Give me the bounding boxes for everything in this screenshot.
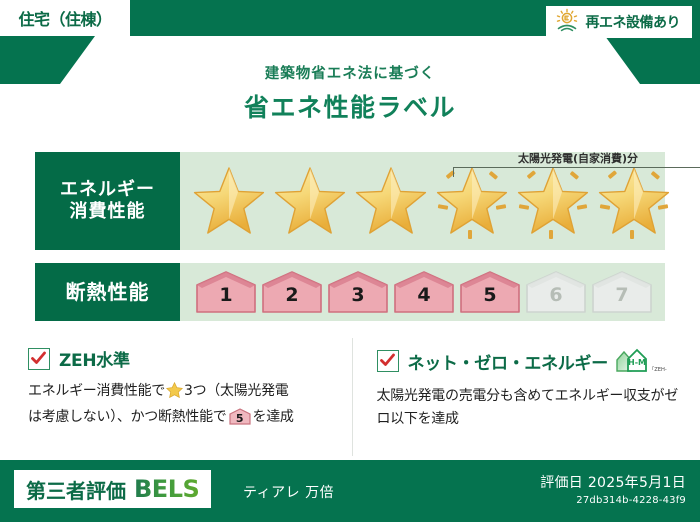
zeh-m-logo: H-M 「ZEH-M」 xyxy=(615,346,667,376)
energy-label-line1: エネルギー xyxy=(60,179,155,202)
zeh-title: ZEH水準 xyxy=(59,346,130,371)
insulation-level-value: 2 xyxy=(285,286,298,314)
inline-house-value: 5 xyxy=(229,413,251,424)
insulation-level-scale: 1 2 3 4 5 6 7 xyxy=(180,270,654,314)
inline-star-icon xyxy=(166,382,183,406)
zeh-checkbox[interactable] xyxy=(28,348,50,370)
building-type-tag: 住宅（住棟） xyxy=(0,0,130,36)
renewable-equipment-badge: 再エネ設備あり xyxy=(546,6,693,38)
energy-performance-label: エネルギー 消費性能 xyxy=(35,152,180,250)
zeh-panel: ZEH水準 エネルギー消費性能で3つ（太陽光発電は考慮しない）、かつ断熱性能で5… xyxy=(0,338,352,456)
insulation-level-value: 5 xyxy=(483,286,496,314)
insulation-level-7: 7 xyxy=(590,270,654,314)
star-rating xyxy=(180,160,673,242)
insulation-level-value: 7 xyxy=(615,286,628,314)
insulation-level-3: 3 xyxy=(326,270,390,314)
insulation-scale-body: 1 2 3 4 5 6 7 xyxy=(180,263,665,321)
net-zero-title: ネット・ゼロ・エネルギー xyxy=(408,349,608,374)
building-type-label: 住宅（住棟） xyxy=(18,6,111,30)
evaluation-id: 27db314b-4228-43f9 xyxy=(540,495,686,506)
subtitle: 建築物省エネ法に基づく xyxy=(0,62,700,83)
footer: 第三者評価 BELS ティアレ 万倍 評価日 2025年5月1日 27db314… xyxy=(0,460,700,522)
zeh-description: エネルギー消費性能で3つ（太陽光発電は考慮しない）、かつ断熱性能で5を達成 xyxy=(28,380,330,428)
insulation-level-6: 6 xyxy=(524,270,588,314)
check-icon xyxy=(30,350,47,367)
star-4 xyxy=(433,160,511,242)
bels-logo-text: BELS xyxy=(134,475,199,503)
evaluation-date: 評価日 2025年5月1日 xyxy=(540,472,686,492)
star-3 xyxy=(352,160,430,242)
insulation-level-4: 4 xyxy=(392,270,456,314)
energy-label-line2: 消費性能 xyxy=(70,201,146,224)
criteria-panels: ZEH水準 エネルギー消費性能で3つ（太陽光発電は考慮しない）、かつ断熱性能で5… xyxy=(0,338,700,456)
renewable-badge-label: 再エネ設備あり xyxy=(586,12,681,32)
zeh-desc-part1: エネルギー消費性能で xyxy=(28,383,165,399)
solar-sun-icon xyxy=(554,8,580,36)
net-zero-description: 太陽光発電の売電分も含めてエネルギー収支がゼロ以下を達成 xyxy=(377,385,679,430)
evaluation-info: 評価日 2025年5月1日 27db314b-4228-43f9 xyxy=(540,472,686,506)
insulation-level-5: 5 xyxy=(458,270,522,314)
energy-label-root: 住宅（住棟） 再エネ設備あり xyxy=(0,0,700,522)
zeh-desc-part3: は考慮しない）、かつ断熱性能で xyxy=(28,409,227,425)
star-5 xyxy=(514,160,592,242)
third-party-label: 第三者評価 xyxy=(26,475,126,504)
insulation-label-text: 断熱性能 xyxy=(66,280,150,305)
bels-certification-box: 第三者評価 BELS xyxy=(14,470,211,508)
svg-text:H-M: H-M xyxy=(628,358,646,367)
insulation-performance-row: 断熱性能 1 2 3 4 5 6 7 xyxy=(35,263,665,321)
insulation-performance-label: 断熱性能 xyxy=(35,263,180,321)
property-name: ティアレ 万倍 xyxy=(243,482,334,502)
insulation-level-1: 1 xyxy=(194,270,258,314)
svg-text:「ZEH-M」: 「ZEH-M」 xyxy=(649,366,667,373)
insulation-level-2: 2 xyxy=(260,270,324,314)
energy-stars-body: 太陽光発電(自家消費)分 xyxy=(180,152,673,250)
star-1 xyxy=(190,160,268,242)
insulation-level-value: 6 xyxy=(549,286,562,314)
check-icon xyxy=(379,352,396,369)
zeh-desc-part2: 3つ（太陽光発電 xyxy=(184,383,289,399)
zeh-panel-header: ZEH水準 xyxy=(28,346,330,371)
insulation-level-value: 3 xyxy=(351,286,364,314)
page-title: 省エネ性能ラベル xyxy=(0,88,700,124)
insulation-level-value: 4 xyxy=(417,286,430,314)
inline-house-badge: 5 xyxy=(229,408,251,425)
energy-performance-row: エネルギー 消費性能 xyxy=(35,152,665,250)
net-zero-checkbox[interactable] xyxy=(377,350,399,372)
net-zero-panel-header: ネット・ゼロ・エネルギー H-M 「ZEH-M」 xyxy=(377,346,679,376)
net-zero-panel: ネット・ゼロ・エネルギー H-M 「ZEH-M」 xyxy=(352,338,700,456)
zeh-desc-part4: を達成 xyxy=(253,409,294,425)
title-block: 建築物省エネ法に基づく 省エネ性能ラベル xyxy=(0,62,700,124)
star-6 xyxy=(595,160,673,242)
star-2 xyxy=(271,160,349,242)
insulation-level-value: 1 xyxy=(219,286,232,314)
